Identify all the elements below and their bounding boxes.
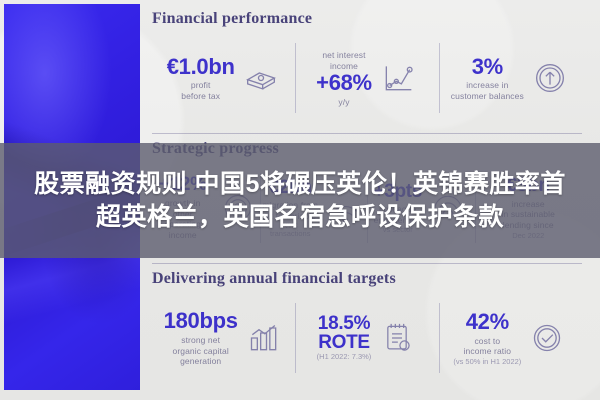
stat-value: €1.0bn <box>167 55 235 79</box>
headline-line-2: 超英格兰，英国名宿急呼设保护条款 <box>96 202 504 233</box>
circle-up-arrow-icon <box>530 58 570 98</box>
cash-stack-icon <box>241 58 281 98</box>
stat-cost-to-income-ratio: 42% cost toincome ratio (vs 50% in H1 20… <box>439 292 582 384</box>
headline-overlay-band: 股票融资规则 中国5将碾压英伦！英锦赛胜率首 超英格兰，英国名宿急呼设保护条款 <box>0 143 600 258</box>
stats-row: 180bps strong netorganic capitalgenerati… <box>152 292 582 384</box>
section-annual-financial-targets: Delivering annual financial targets 180b… <box>152 270 582 390</box>
stat-label: profitbefore tax <box>167 80 235 101</box>
check-badge-icon <box>527 318 567 358</box>
stat-label: y/y <box>316 97 372 108</box>
stat-value: 180bps <box>164 309 238 333</box>
section-divider <box>152 263 582 264</box>
stat-organic-capital-generation: 180bps strong netorganic capitalgenerati… <box>152 292 295 384</box>
section-title: Delivering annual financial targets <box>152 270 582 288</box>
stat-net-interest-income: net interestincome +68% y/y <box>295 32 438 124</box>
stat-label: cost toincome ratio <box>453 336 521 357</box>
section-financial-performance: Financial performance €1.0bn profitbefor… <box>152 10 582 132</box>
screenshot-root: Financial performance €1.0bn profitbefor… <box>0 0 600 400</box>
stat-rote: 18.5% ROTE (H1 2022: 7.3%) <box>295 292 438 384</box>
stat-value: 3% <box>451 55 524 79</box>
section-divider <box>152 133 582 134</box>
stat-label-above: net interestincome <box>316 50 372 71</box>
section-title: Financial performance <box>152 10 582 28</box>
stats-row: €1.0bn profitbefore tax net <box>152 32 582 124</box>
stat-label: increase incustomer balances <box>451 80 524 101</box>
stat-value: 42% <box>453 310 521 334</box>
notebook-icon <box>377 318 417 358</box>
stat-customer-balances: 3% increase incustomer balances <box>439 32 582 124</box>
stat-profit-before-tax: €1.0bn profitbefore tax <box>152 32 295 124</box>
headline-line-1: 股票融资规则 中国5将碾压英伦！英锦赛胜率首 <box>34 169 566 200</box>
line-chart-up-icon <box>378 58 418 98</box>
stat-note: (H1 2022: 7.3%) <box>317 353 372 361</box>
stat-value-secondary: ROTE <box>317 333 372 352</box>
bar-chart-icon <box>244 318 284 358</box>
stat-value: +68% <box>316 71 372 95</box>
stat-value: 18.5% <box>317 314 372 333</box>
stat-note: (vs 50% in H1 2022) <box>453 358 521 366</box>
stat-label: strong netorganic capitalgeneration <box>164 335 238 367</box>
